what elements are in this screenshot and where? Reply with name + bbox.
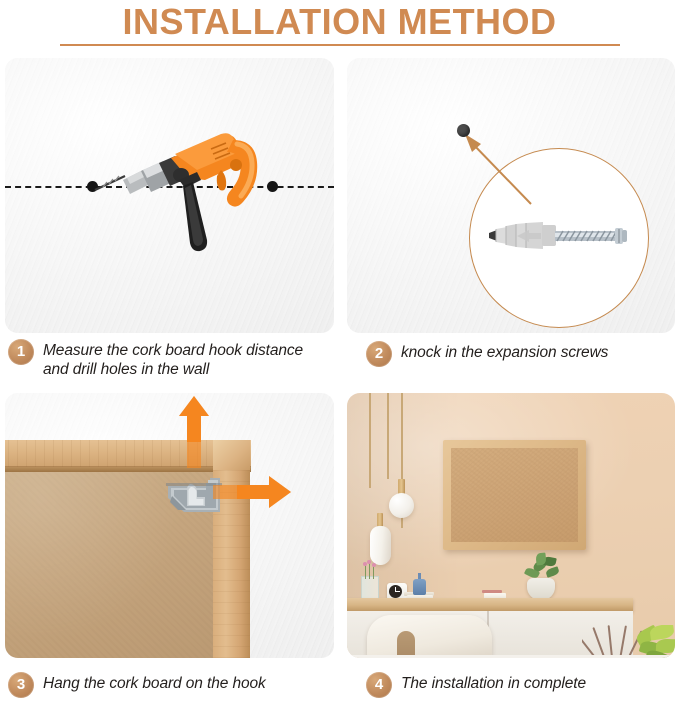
- step-3-caption-text: Hang the cork board on the hook: [43, 672, 266, 693]
- title-underline-rule: [60, 44, 620, 46]
- chair-leg: [397, 631, 415, 658]
- power-drill-icon: [93, 118, 268, 268]
- floor-plant: [582, 625, 675, 658]
- step-1-caption: 1 Measure the cork board hook distance a…: [8, 339, 333, 379]
- step-4-caption: 4 The installation in complete: [366, 672, 676, 698]
- hole-marker-right-icon: [267, 181, 278, 192]
- tulip-stem: [365, 565, 366, 579]
- step-2-caption-text: knock in the expansion screws: [401, 341, 608, 362]
- step-1-illustration-panel: [5, 58, 334, 333]
- step-1-caption-text: Measure the cork board hook distance and…: [43, 339, 303, 379]
- tulip-stem: [373, 566, 374, 579]
- step-3-caption: 3 Hang the cork board on the hook: [8, 672, 333, 698]
- pendant-lamp-globe-icon: [389, 493, 414, 518]
- pendant-lamp-cylinder-icon: [370, 526, 391, 565]
- mounted-cork-board: [443, 440, 586, 550]
- step-1-caption-line2: and drill holes in the wall: [43, 360, 303, 379]
- blue-bottle: [413, 579, 426, 595]
- pendant-cord-2: [387, 393, 389, 479]
- step-1-badge: 1: [8, 339, 34, 365]
- step-1-caption-line1: Measure the cork board hook distance: [43, 341, 303, 360]
- drilled-hole-dot-icon: [457, 124, 470, 137]
- cork-board-surface: [451, 448, 578, 542]
- chair-back: [367, 615, 492, 658]
- step-3-badge: 3: [8, 672, 34, 698]
- clock-hand: [395, 591, 400, 592]
- page-title: INSTALLATION METHOD: [0, 0, 679, 42]
- arrow-right-icon: [213, 475, 291, 509]
- pendant-cord-1: [369, 393, 371, 488]
- step-3-illustration-panel: [5, 393, 334, 658]
- step-2-caption: 2 knock in the expansion screws: [366, 341, 676, 367]
- anchor-and-screw-icon: [487, 218, 632, 254]
- pointer-arrow-icon: [459, 130, 539, 210]
- step-2-badge: 2: [366, 341, 392, 367]
- tulip-stem: [369, 563, 370, 579]
- step-4-caption-text: The installation in complete: [401, 672, 586, 693]
- console-desk-top: [347, 598, 633, 611]
- step-4-badge: 4: [366, 672, 392, 698]
- arrow-up-icon: [178, 396, 210, 468]
- tulip-bloom: [372, 563, 376, 567]
- step-4-illustration-panel: [347, 393, 675, 658]
- tulip-bloom: [367, 560, 371, 564]
- cork-board-back-view: [5, 393, 334, 658]
- step-2-illustration-panel: [347, 58, 675, 333]
- floor-strip: [347, 655, 675, 658]
